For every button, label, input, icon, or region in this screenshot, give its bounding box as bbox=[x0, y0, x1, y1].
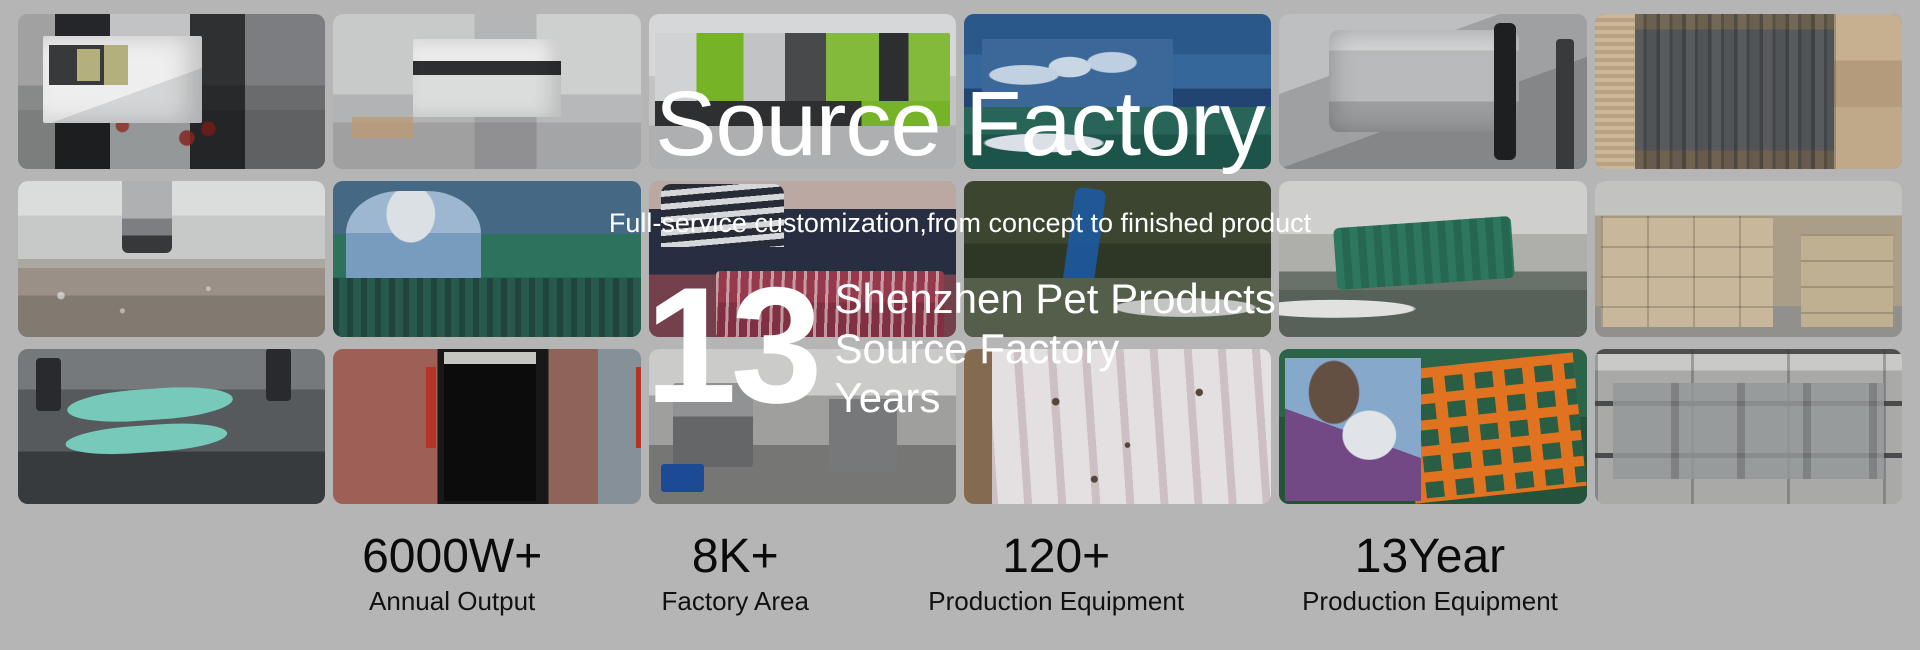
gallery-tile-carton-warehouse[interactable] bbox=[1595, 181, 1902, 336]
gallery-tile-dark-green-molding[interactable] bbox=[964, 181, 1271, 336]
photo-packed-cartons bbox=[1595, 14, 1902, 169]
gallery-tile-steel-mold-closeup[interactable] bbox=[1279, 14, 1586, 169]
gallery-tile-molds-on-floor[interactable] bbox=[649, 349, 956, 504]
stat-value: 6000W+ bbox=[362, 532, 542, 582]
gallery-tile-assembly-line-workers[interactable] bbox=[964, 14, 1271, 169]
gallery-tile-machine-shop[interactable] bbox=[333, 14, 640, 169]
photo-cnc-machining-center bbox=[18, 14, 325, 169]
gallery-tile-foam-wrapped-products[interactable] bbox=[964, 349, 1271, 504]
stat-label: Factory Area bbox=[660, 582, 810, 621]
stat-value: 13Year bbox=[1302, 532, 1558, 582]
gallery-tile-factory-entrance[interactable] bbox=[333, 349, 640, 504]
photo-worker-striped-top bbox=[649, 181, 956, 336]
photo-worker-green-bench bbox=[333, 181, 640, 336]
stat-annual-output: 6000W+ Annual Output bbox=[362, 532, 542, 621]
stat-factory-area: 8K+ Factory Area bbox=[660, 532, 810, 621]
photo-machine-shop bbox=[333, 14, 640, 169]
photo-dark-green-molding bbox=[964, 181, 1271, 336]
stat-value: 8K+ bbox=[660, 532, 810, 582]
gallery-tile-packed-cartons[interactable] bbox=[1595, 14, 1902, 169]
photo-steel-mold-closeup bbox=[1279, 14, 1586, 169]
photo-factory-entrance bbox=[333, 349, 640, 504]
source-factory-banner: Source Factory Full-service customizatio… bbox=[0, 0, 1920, 650]
stat-label: Production Equipment bbox=[928, 582, 1184, 621]
photo-orange-parts-packing bbox=[1279, 349, 1586, 504]
gallery-tile-storage-racks[interactable] bbox=[1595, 349, 1902, 504]
gallery-tile-inspection-bench[interactable] bbox=[1279, 181, 1586, 336]
gallery-tile-worker-striped-top[interactable] bbox=[649, 181, 956, 336]
gallery-tile-mint-green-mold[interactable] bbox=[18, 349, 325, 504]
factory-photo-grid bbox=[0, 0, 1920, 508]
stat-years-experience: 13Year Production Equipment bbox=[1302, 532, 1558, 621]
photo-storage-racks bbox=[1595, 349, 1902, 504]
stat-production-equipment: 120+ Production Equipment bbox=[928, 532, 1184, 621]
photo-injection-molding-machine bbox=[649, 14, 956, 169]
gallery-tile-injection-molding-machine[interactable] bbox=[649, 14, 956, 169]
photo-carton-warehouse bbox=[1595, 181, 1902, 336]
photo-cnc-cutter-sheet bbox=[18, 181, 325, 336]
stat-value: 120+ bbox=[928, 532, 1184, 582]
photo-molds-on-floor bbox=[649, 349, 956, 504]
photo-foam-wrapped-products bbox=[964, 349, 1271, 504]
gallery-tile-cnc-cutter-sheet[interactable] bbox=[18, 181, 325, 336]
statistics-bar: 6000W+ Annual Output 8K+ Factory Area 12… bbox=[0, 508, 1920, 650]
gallery-tile-cnc-machining-center[interactable] bbox=[18, 14, 325, 169]
gallery-tile-orange-parts-packing[interactable] bbox=[1279, 349, 1586, 504]
photo-assembly-line-workers bbox=[964, 14, 1271, 169]
stat-label: Production Equipment bbox=[1302, 582, 1558, 621]
gallery-tile-worker-green-bench[interactable] bbox=[333, 181, 640, 336]
photo-inspection-bench bbox=[1279, 181, 1586, 336]
stat-label: Annual Output bbox=[362, 582, 542, 621]
photo-mint-green-mold bbox=[18, 349, 325, 504]
